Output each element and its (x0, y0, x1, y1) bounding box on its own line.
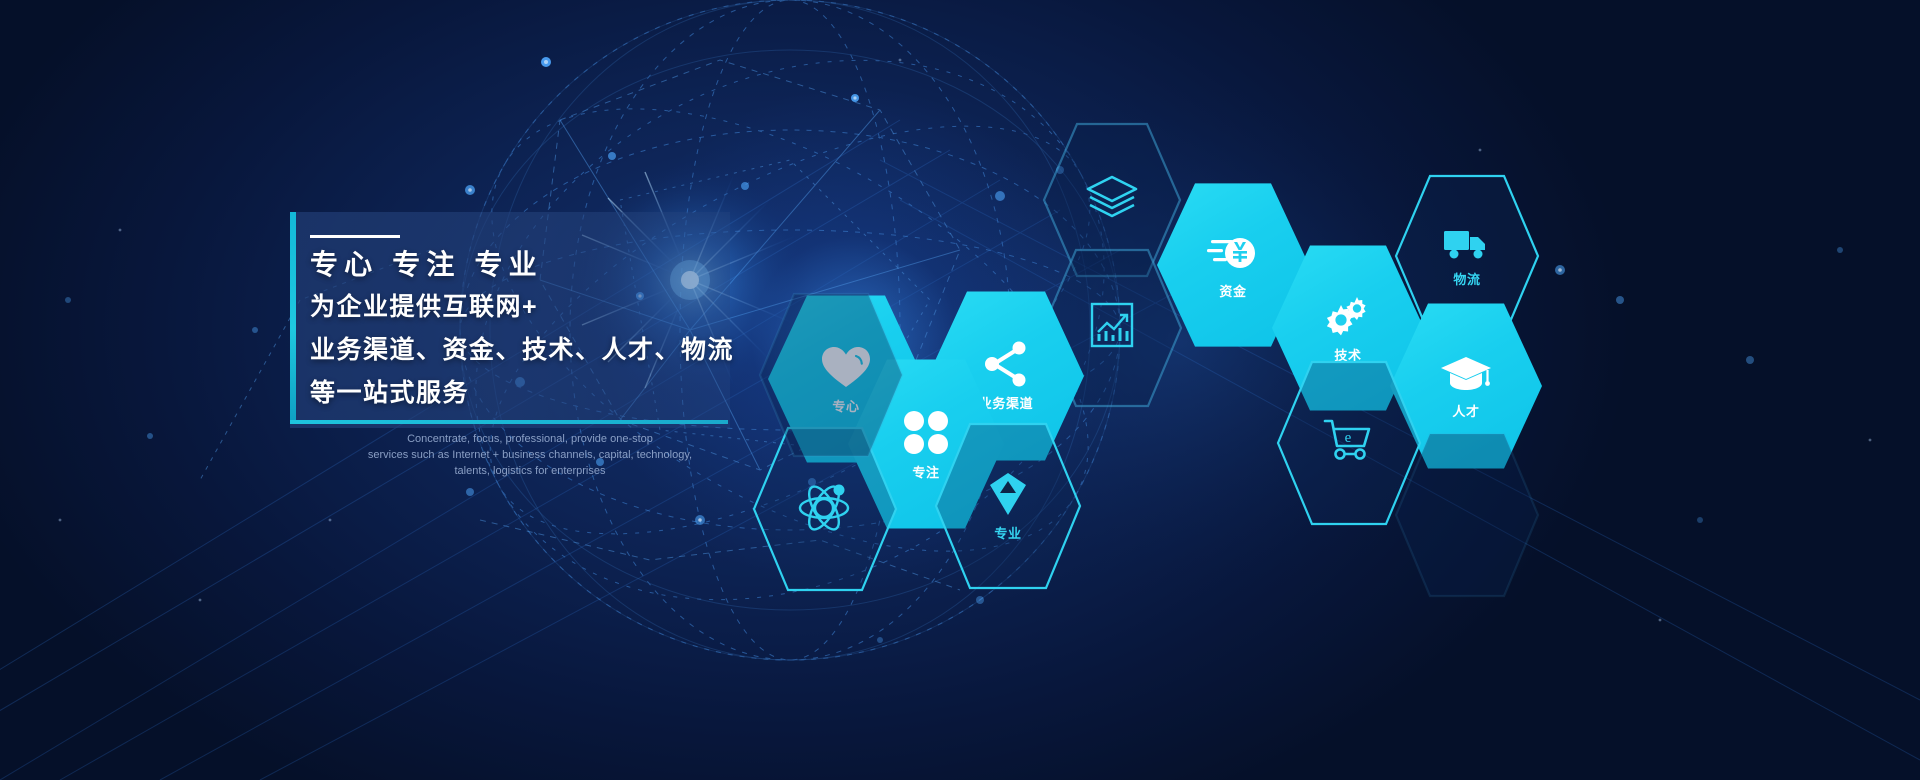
clover-icon (901, 408, 951, 456)
hex-talents-label: 人才 (1452, 401, 1479, 420)
subtitle-line-3: talents, logistics for enterprises (330, 464, 730, 480)
hex-logistics-label: 物流 (1453, 269, 1480, 288)
subtitle-line-2: services such as Internet + business cha… (330, 448, 730, 464)
headline-line-4: 等一站式服务 (310, 373, 469, 409)
graduation-cap-icon (1439, 353, 1493, 395)
hero-banner: 专心 专注 专业 为企业提供互联网+ 业务渠道、资金、技术、人才、物流 等一站式… (0, 0, 1920, 780)
headline-line-3: 业务渠道、资金、技术、人才、物流 (310, 330, 734, 366)
growth-chart-icon (1086, 298, 1138, 352)
diamond-icon (986, 471, 1030, 517)
truck-icon (1442, 225, 1492, 263)
accent-bar (290, 212, 296, 424)
headline-divider (310, 235, 400, 238)
shopping-cart-e-icon: e (1322, 416, 1376, 464)
share-nodes-icon (981, 341, 1031, 387)
panel-bottom-rule (290, 420, 728, 424)
hex-professional-label: 专业 (994, 523, 1021, 542)
hex-tech-label: 技术 (1334, 345, 1361, 364)
yen-coin-icon (1207, 231, 1259, 275)
hex-capital-label: 资金 (1219, 281, 1246, 300)
atom-icon (798, 481, 852, 531)
headline-line-2: 为企业提供互联网+ (310, 287, 538, 323)
heart-icon (820, 344, 872, 390)
layers-icon (1084, 171, 1140, 223)
gears-icon (1321, 293, 1375, 339)
subtitle-line-1: Concentrate, focus, professional, provid… (330, 432, 730, 448)
hex-focus-heart-label: 专心 (832, 396, 859, 415)
hex-focus-label: 专注 (912, 462, 939, 481)
subtitle-block: Concentrate, focus, professional, provid… (330, 432, 730, 480)
headline-line-1: 专心 专注 专业 (310, 243, 543, 283)
svg-text:e: e (1345, 430, 1352, 446)
